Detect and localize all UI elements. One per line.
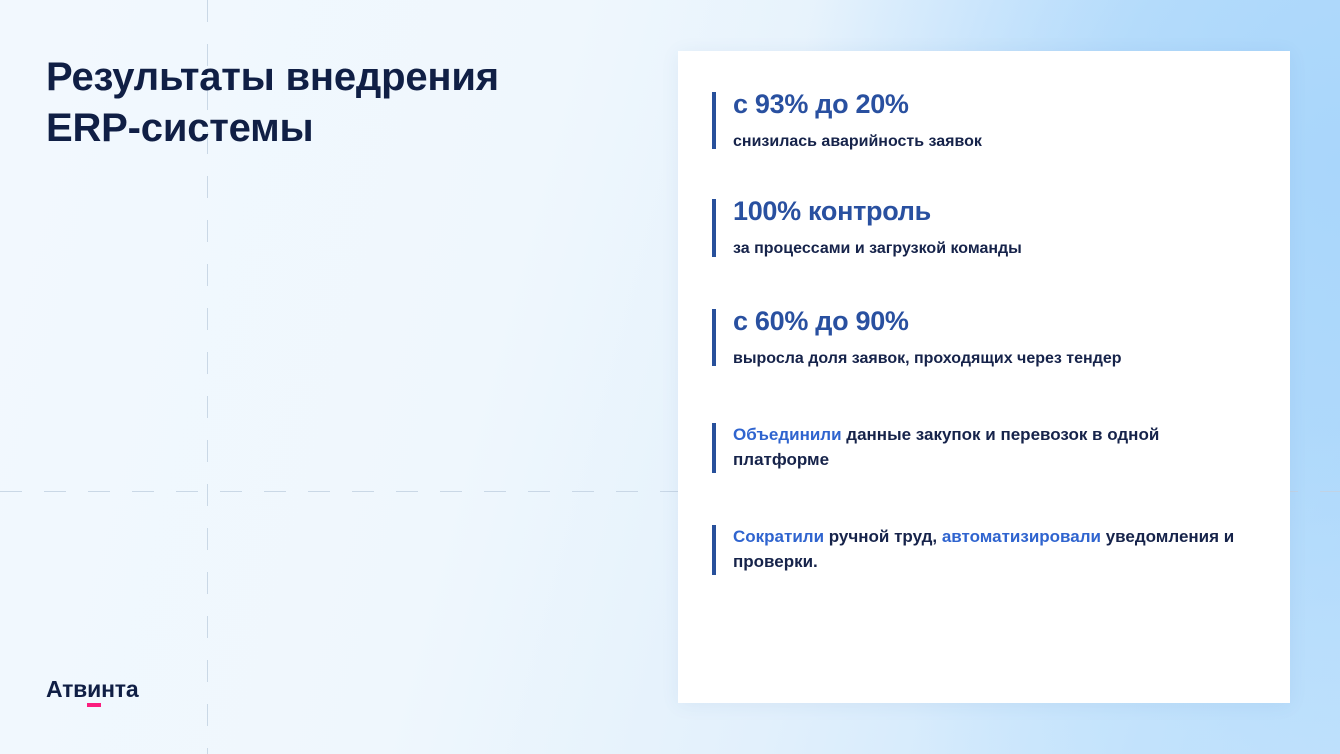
accent-bar <box>712 309 716 366</box>
stat-item: с 93% до 20% снизилась аварийность заяво… <box>712 89 1256 152</box>
slide-canvas: Результаты внедрения ERP-системы Атв и н… <box>0 0 1340 754</box>
logo-underline-accent <box>87 703 101 707</box>
note-item: Объединили данные закупок и перевозок в … <box>712 423 1256 473</box>
stat-subtext: выросла доля заявок, проходящих через те… <box>733 348 1256 370</box>
logo-marked-letter: и <box>87 676 101 703</box>
brand-logo: Атв и нта <box>46 676 138 703</box>
results-list: с 93% до 20% снизилась аварийность заяво… <box>712 89 1256 575</box>
results-card: с 93% до 20% снизилась аварийность заяво… <box>678 51 1290 703</box>
page-title: Результаты внедрения ERP-системы <box>46 52 606 154</box>
accent-bar <box>712 92 716 149</box>
accent-bar <box>712 199 716 256</box>
note-text: Объединили данные закупок и перевозок в … <box>733 423 1256 473</box>
note-mid: ручной труд, <box>824 527 942 546</box>
accent-bar <box>712 423 716 473</box>
note-highlight-2: автоматизировали <box>942 527 1101 546</box>
stat-headline: 100% контроль <box>733 196 1256 228</box>
stat-headline: с 93% до 20% <box>733 89 1256 121</box>
note-text: Сократили ручной труд, автоматизировали … <box>733 525 1256 575</box>
note-item: Сократили ручной труд, автоматизировали … <box>712 525 1256 575</box>
accent-bar <box>712 525 716 575</box>
note-highlight: Объединили <box>733 425 842 444</box>
stat-subtext: снизилась аварийность заявок <box>733 131 1256 153</box>
stat-item: 100% контроль за процессами и загрузкой … <box>712 196 1256 259</box>
stat-subtext: за процессами и загрузкой команды <box>733 238 1256 260</box>
stat-item: с 60% до 90% выросла доля заявок, проход… <box>712 306 1256 369</box>
stat-headline: с 60% до 90% <box>733 306 1256 338</box>
note-highlight: Сократили <box>733 527 824 546</box>
logo-prefix: Атв <box>46 676 87 703</box>
logo-suffix: нта <box>101 676 138 703</box>
logo-marked-letter-text: и <box>87 676 101 702</box>
